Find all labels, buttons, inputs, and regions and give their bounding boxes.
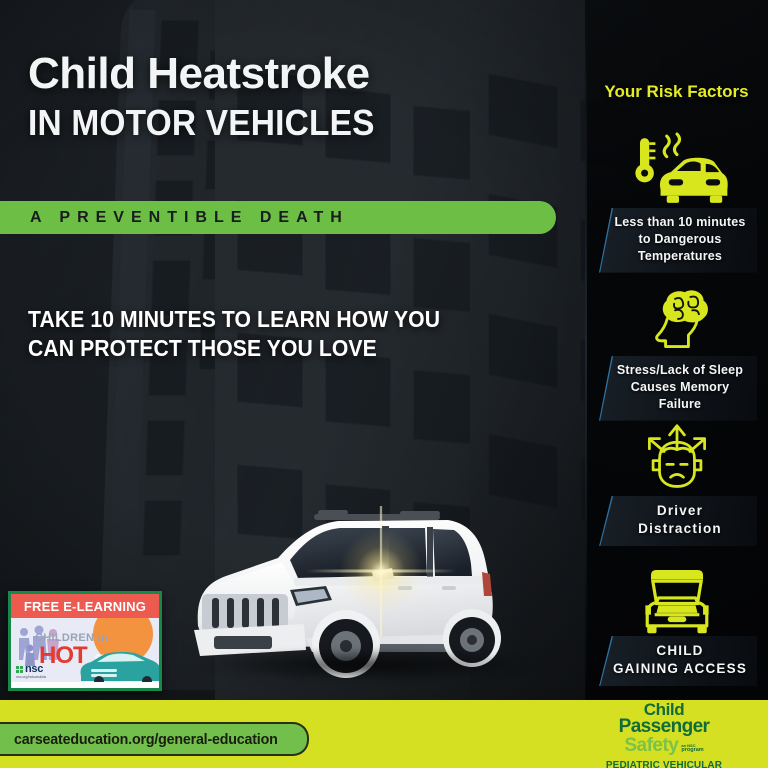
risk-factor-card-2: Stress/Lack of SleepCauses Memory Failur…: [599, 356, 757, 421]
risk-factor-card-4: CHILDGAINING ACCESS: [599, 636, 757, 686]
risk-factor-card-1: Less than 10 minutesto DangerousTemperat…: [599, 208, 757, 273]
risk-factor-label-1: Less than 10 minutesto DangerousTemperat…: [609, 214, 751, 265]
risk-factor-item-4[interactable]: CHILDGAINING ACCESS: [585, 558, 768, 686]
risk-factor-label-4: CHILDGAINING ACCESS: [609, 642, 751, 678]
thermometer-car-icon: [585, 130, 768, 208]
badge-header: FREE E-LEARNING: [11, 594, 159, 618]
cps-program-tag: an NSC program: [681, 744, 703, 755]
risk-factor-card-3: DriverDistraction: [599, 496, 757, 546]
teal-car-icon: [77, 650, 159, 682]
page-subtitle: IN MOTOR VEHICLES: [28, 104, 530, 142]
website-url-label: carseateducation.org/general-education: [14, 731, 278, 748]
car-open-trunk-icon: [585, 558, 768, 636]
call-to-action-text: TAKE 10 MINUTES TO LEARN HOW YOU CAN PRO…: [28, 305, 488, 364]
cps-logo-line2: Passenger: [574, 718, 754, 736]
cps-logo: Child Passenger Safety an NSC program PE…: [574, 702, 754, 768]
cps-tagline: PEDIATRIC VEHICULAR HEATSTROKE PREVENTIO…: [574, 760, 754, 768]
nsc-dots-icon: [16, 666, 23, 673]
cps-logo-line3: Safety: [624, 737, 678, 755]
preventible-death-banner: A PREVENTIBLE DEATH: [0, 201, 556, 234]
nsc-logo: nsc nsc.org/hotcarskids: [16, 663, 46, 679]
cps-logo-line3-row: Safety an NSC program: [574, 737, 754, 755]
risk-factor-item-1[interactable]: Less than 10 minutesto DangerousTemperat…: [585, 130, 768, 273]
white-suv-photo: [186, 498, 546, 696]
head-brain-icon: [585, 278, 768, 356]
nsc-logo-url: nsc.org/hotcarskids: [16, 675, 46, 679]
nsc-logo-text: nsc: [25, 663, 43, 675]
badge-body: CHILDREN in HOT cars nsc: [11, 618, 159, 682]
risk-factor-label-3: DriverDistraction: [609, 502, 751, 538]
page-title: Child Heatstroke: [28, 52, 568, 96]
free-elearning-badge[interactable]: FREE E-LEARNING CHILDREN in HOT cars: [8, 591, 162, 691]
risk-factors-heading: Your Risk Factors: [585, 82, 768, 102]
banner-label: A PREVENTIBLE DEATH: [30, 209, 349, 227]
badge-header-label: FREE E-LEARNING: [24, 599, 146, 614]
risk-factor-item-3[interactable]: DriverDistraction: [585, 418, 768, 546]
cps-tagline-line1: PEDIATRIC VEHICULAR: [574, 760, 754, 768]
website-url-pill[interactable]: carseateducation.org/general-education: [0, 722, 309, 756]
distracted-face-arrows-icon: [585, 418, 768, 496]
suv-ground-shadow: [194, 648, 538, 682]
headline-block: Child Heatstroke IN MOTOR VEHICLES: [28, 52, 568, 142]
cps-program-line2: program: [681, 748, 703, 753]
infographic-poster: Child Heatstroke IN MOTOR VEHICLES A PRE…: [0, 0, 768, 768]
risk-factor-label-2: Stress/Lack of SleepCauses Memory Failur…: [609, 362, 751, 413]
risk-factor-item-2[interactable]: Stress/Lack of SleepCauses Memory Failur…: [585, 278, 768, 421]
